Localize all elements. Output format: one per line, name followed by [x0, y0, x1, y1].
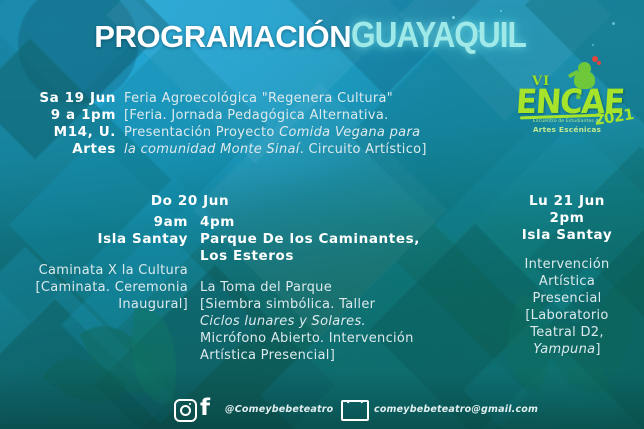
logo-subtitle-line2: Artes Escénicas — [520, 126, 614, 133]
contact-email[interactable]: comeybebeteatro@gmail.com — [374, 404, 538, 415]
envelope-icon[interactable] — [341, 400, 369, 421]
description-line: Ciclos lunares y Solares. — [200, 313, 452, 330]
description-line: Artística Presencial] — [200, 347, 452, 364]
description-line: Artística — [490, 273, 644, 290]
footer-contact-bar: f @Comeybebeteatro comeybebeteatro@gmail… — [0, 396, 644, 426]
description-line: Teatral D2, — [490, 324, 644, 341]
event-lu21-when: Lu 21 Jun2pmIsla Santay — [490, 193, 644, 244]
when-line: 9am — [48, 214, 188, 231]
when-line: 9 a 1pm — [6, 107, 116, 124]
social-handle[interactable]: @Comeybebeteatro — [225, 404, 333, 415]
description-line: Presentación Proyecto Comida Vegana para — [124, 124, 504, 141]
poster-canvas: PROGRAMACIÓNGUAYAQUIL VI ENCAE 2021 Encu… — [0, 0, 644, 429]
description-line: [Laboratorio — [490, 307, 644, 324]
when-line: Parque De los Caminantes, — [200, 231, 450, 248]
instagram-icon[interactable] — [174, 399, 197, 422]
when-line: Isla Santay — [490, 227, 644, 244]
event-do20-left-when: 9amIsla Santay — [48, 214, 188, 248]
description-line: [Siembra simbólica. Taller — [200, 296, 452, 313]
description-line: Intervención — [490, 256, 644, 273]
description-line: la comunidad Monte Sinaí. Circuito Artís… — [124, 141, 504, 158]
event-do20-right-description: La Toma del Parque[Siembra simbólica. Ta… — [200, 279, 452, 364]
description-line: [Caminata. Ceremonia — [4, 279, 188, 296]
poster-title: PROGRAMACIÓNGUAYAQUIL — [0, 14, 644, 56]
description-line: Inaugural] — [4, 296, 188, 313]
description-line: Feria Agroecológica "Regenera Cultura" — [124, 90, 504, 107]
when-line: Lu 21 Jun — [490, 193, 644, 210]
event-sa19-when: Sa 19 Jun9 a 1pmM14, U.Artes — [6, 90, 116, 158]
when-line: Sa 19 Jun — [6, 90, 116, 107]
event-lu21-description: IntervenciónArtísticaPresencial[Laborato… — [490, 256, 644, 358]
logo-subtitle-line1: Encuentro de Estudiantes de — [520, 120, 614, 124]
when-line: Isla Santay — [48, 231, 188, 248]
description-line: Caminata X la Cultura — [4, 262, 188, 279]
description-line: Presencial — [490, 290, 644, 307]
when-line: 2pm — [490, 210, 644, 227]
description-line: La Toma del Parque — [200, 279, 452, 296]
when-line: 4pm — [200, 214, 450, 231]
when-line: M14, U. — [6, 124, 116, 141]
description-line: Yampuna] — [490, 341, 644, 358]
event-do20-heading: Do 20 Jun — [90, 193, 290, 210]
when-line: Artes — [6, 141, 116, 158]
event-sa19-description: Feria Agroecológica "Regenera Cultura"[F… — [124, 90, 504, 158]
facebook-icon[interactable]: f — [200, 397, 210, 420]
title-guayaquil: GUAYAQUIL — [351, 14, 526, 56]
description-line: [Feria. Jornada Pedagógica Alternativa. — [124, 107, 504, 124]
when-line: Los Esteros — [200, 248, 450, 265]
title-programacion: PROGRAMACIÓN — [94, 19, 351, 54]
encae-logo: VI ENCAE 2021 Encuentro de Estudiantes d… — [512, 56, 636, 148]
event-do20-left-description: Caminata X la Cultura[Caminata. Ceremoni… — [4, 262, 188, 313]
bg-speckle — [500, 10, 502, 12]
description-line: Micrófono Abierto. Intervención — [200, 330, 452, 347]
event-do20-right-when: 4pmParque De los Caminantes,Los Esteros — [200, 214, 450, 265]
